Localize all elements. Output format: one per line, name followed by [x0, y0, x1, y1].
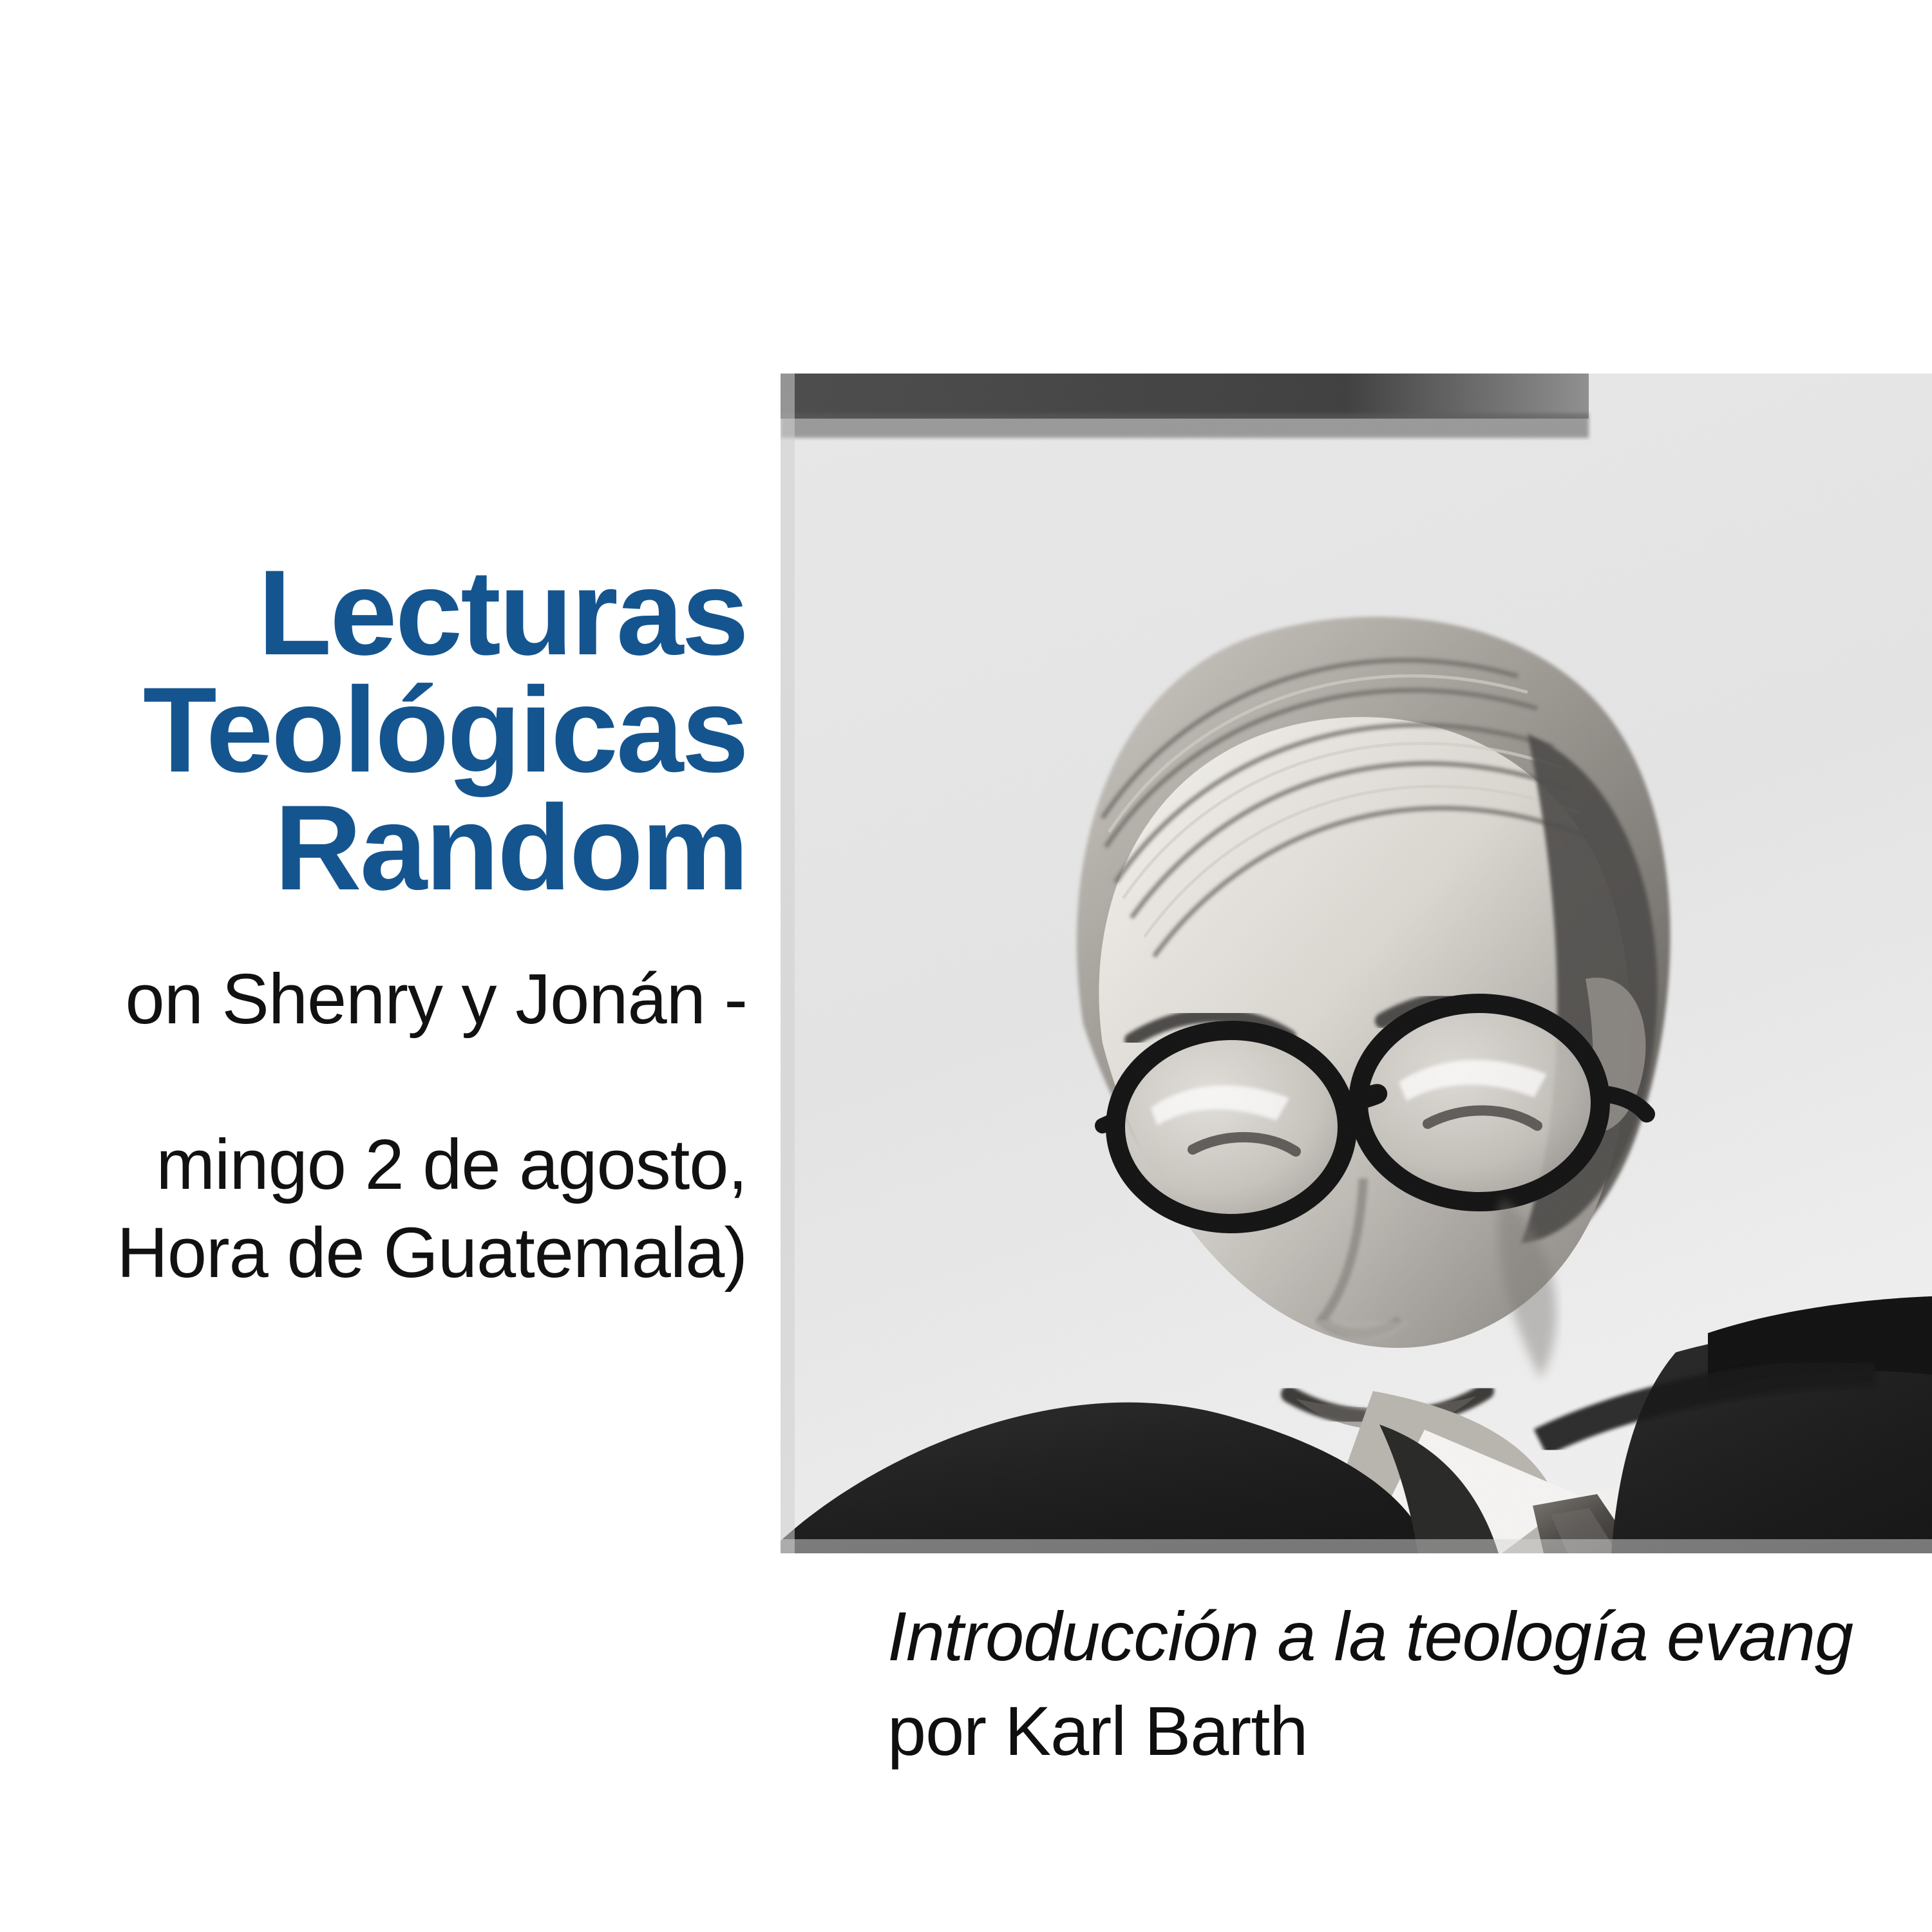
title-line-lecturas: Lecturas [0, 554, 747, 671]
hosts-line: on Shenry y Jonán - [0, 906, 747, 1038]
title-line-teologicas: Teológicas [0, 671, 747, 788]
date-block: mingo 2 de agosto, Hora de Guatemala) [0, 1038, 747, 1298]
caption-book-title: Introducción a la teología evang [887, 1596, 1932, 1676]
portrait-photo-image [781, 374, 1932, 1553]
poster-canvas: Lecturas Teológicas Random on Shenry y J… [0, 0, 1932, 1932]
left-text-column: Lecturas Teológicas Random on Shenry y J… [0, 554, 747, 1298]
photo-caption: Introducción a la teología evang por Kar… [887, 1596, 1932, 1772]
caption-author: por Karl Barth [887, 1676, 1932, 1771]
timezone-line: Hora de Guatemala) [0, 1209, 747, 1298]
date-line: mingo 2 de agosto, [0, 1121, 747, 1209]
portrait-photo [781, 374, 1932, 1553]
title-line-random: Random [0, 789, 747, 906]
